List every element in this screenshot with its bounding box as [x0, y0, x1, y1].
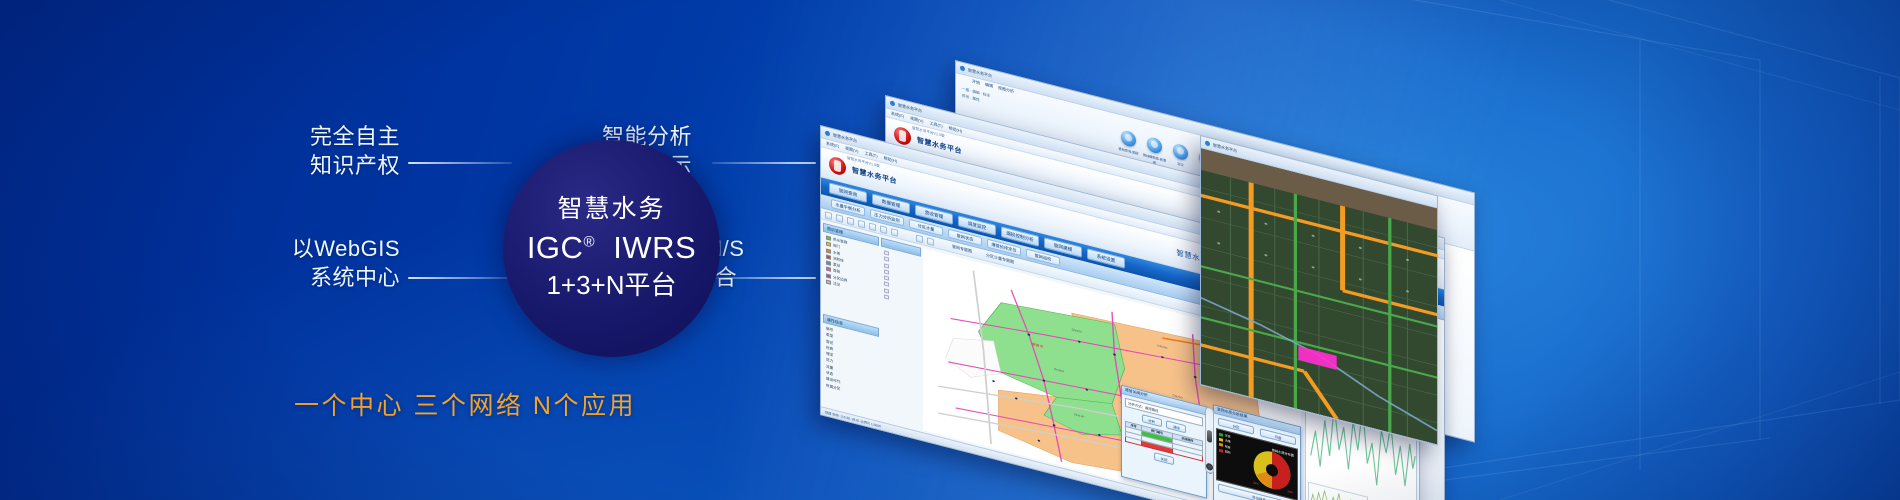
hub-product-name: IGC® IWRS: [527, 230, 696, 266]
tool-identify-icon[interactable]: [880, 225, 887, 234]
valve-close-button[interactable]: 关闭: [1154, 452, 1174, 465]
legend-swatch-2: [1219, 443, 1223, 447]
ribbon-icon-query[interactable]: 管网查询-图层: [1121, 129, 1136, 148]
screenshot-stack: 智慧水务平台 开始 编辑 视图分析 一般 · 编辑 · 标注 符号 · 属性 管…: [800, 0, 1900, 500]
hub-circle: 智慧水务 IGC® IWRS 1+3+N平台: [503, 140, 720, 357]
pan-compass-icon[interactable]: [1206, 462, 1213, 471]
ribbon-tab-0[interactable]: 开始: [972, 78, 980, 87]
map-zoom-slider[interactable]: [1205, 406, 1214, 474]
zoom-slider-handle[interactable]: [1207, 430, 1212, 443]
window-icon-middle: [890, 100, 895, 106]
legend-swatch-0: [1219, 433, 1223, 437]
layer-panel: 图层管理 供水管网 阀门 水表 消防栓 泵站 管段 分区边界 注记: [823, 223, 879, 301]
hub-platform-label: 1+3+N平台: [546, 270, 676, 301]
tool-palette: [881, 238, 921, 311]
tool-palette-list[interactable]: [881, 247, 921, 311]
tool-select-icon[interactable]: [858, 219, 865, 228]
attr-label-1: 类型: [826, 333, 833, 339]
tool-zoomout-icon[interactable]: [847, 216, 854, 225]
pie-legend: 优良 合格 轻度 超标: [1219, 432, 1231, 456]
toolbar-group-0: 一般: [962, 87, 969, 93]
company-logo-icon: [894, 125, 911, 146]
message-cluster: 完全自主 知识产权 以WebGIS 系统中心 智能分析 数据展示 C/S+B/S…: [0, 0, 840, 500]
ribbon-tab-1[interactable]: 编辑: [985, 82, 993, 91]
window-icon-main: [825, 130, 830, 136]
feature-bottom-left: 以WebGIS 系统中心: [185, 234, 400, 293]
toolbar-group-3: 符号: [962, 94, 969, 100]
ribbon-tab-2[interactable]: 视图分析: [998, 85, 1014, 96]
tool-layer-icon[interactable]: [916, 234, 923, 243]
registered-mark-icon: ®: [583, 234, 595, 251]
tool-pan-icon[interactable]: [825, 211, 832, 220]
toolbar-group-4: 属性: [972, 96, 979, 102]
feature-top-left: 完全自主 知识产权: [185, 122, 400, 181]
palette-icon-1: [884, 257, 889, 262]
tool-label-icon[interactable]: [927, 237, 934, 246]
feature-top-left-line1: 完全自主: [185, 122, 400, 151]
tagline: 一个中心 三个网络 N个应用: [185, 386, 745, 422]
legend-label-3: 超标: [1225, 449, 1231, 454]
map-tab-0[interactable]: 管网专题图: [952, 244, 972, 255]
tool-measure-icon[interactable]: [869, 222, 876, 231]
attribute-panel: 属性信息 编号 类型 管径 材质 埋深 压力 流量 状态 建设年代 所属分区: [823, 314, 879, 404]
company-logo-icon-main: [829, 155, 846, 176]
hub-chinese-title: 智慧水务: [557, 196, 665, 224]
layer-swatch-5: [826, 267, 831, 272]
feature-top-left-line2: 知识产权: [185, 151, 400, 180]
ribbon-icon-locate[interactable]: 定位: [1173, 143, 1188, 162]
layer-swatch-7: [826, 280, 831, 285]
toolbar-group-2: 标注: [983, 92, 990, 98]
legend-swatch-3: [1219, 448, 1223, 452]
layer-swatch-2: [826, 248, 831, 253]
legend-swatch-1: [1219, 438, 1223, 442]
tool-print-icon[interactable]: [891, 228, 898, 237]
hub-product-prefix: IGC: [527, 230, 584, 265]
palette-icon-2: [884, 263, 889, 268]
toolbar-group-1: 编辑: [972, 89, 979, 95]
connector-line-bottom-left: [408, 277, 512, 279]
palette-icon-5: [884, 282, 889, 287]
hub-product-suffix: IWRS: [613, 230, 696, 265]
window-icon-satellite: [1205, 140, 1210, 146]
layer-label-1: 阀门: [833, 244, 840, 250]
palette-icon-7: [884, 294, 889, 299]
feature-bottom-left-line2: 系统中心: [185, 263, 400, 292]
tool-zoomin-icon[interactable]: [836, 214, 843, 223]
banner-root: 完全自主 知识产权 以WebGIS 系统中心 智能分析 数据展示 C/S+B/S…: [0, 0, 1900, 500]
attribute-list: 编号 类型 管径 材质 埋深 压力 流量 状态 建设年代 所属分区: [823, 323, 879, 404]
window-icon-back: [960, 65, 965, 71]
feature-bottom-left-line1: 以WebGIS: [185, 234, 400, 263]
layer-swatch-1: [826, 242, 831, 247]
connector-line-top-left: [408, 162, 512, 164]
ribbon-icon-profile[interactable]: 管线横断面-剖面图: [1147, 136, 1162, 155]
layer-label-7: 注记: [833, 281, 840, 287]
